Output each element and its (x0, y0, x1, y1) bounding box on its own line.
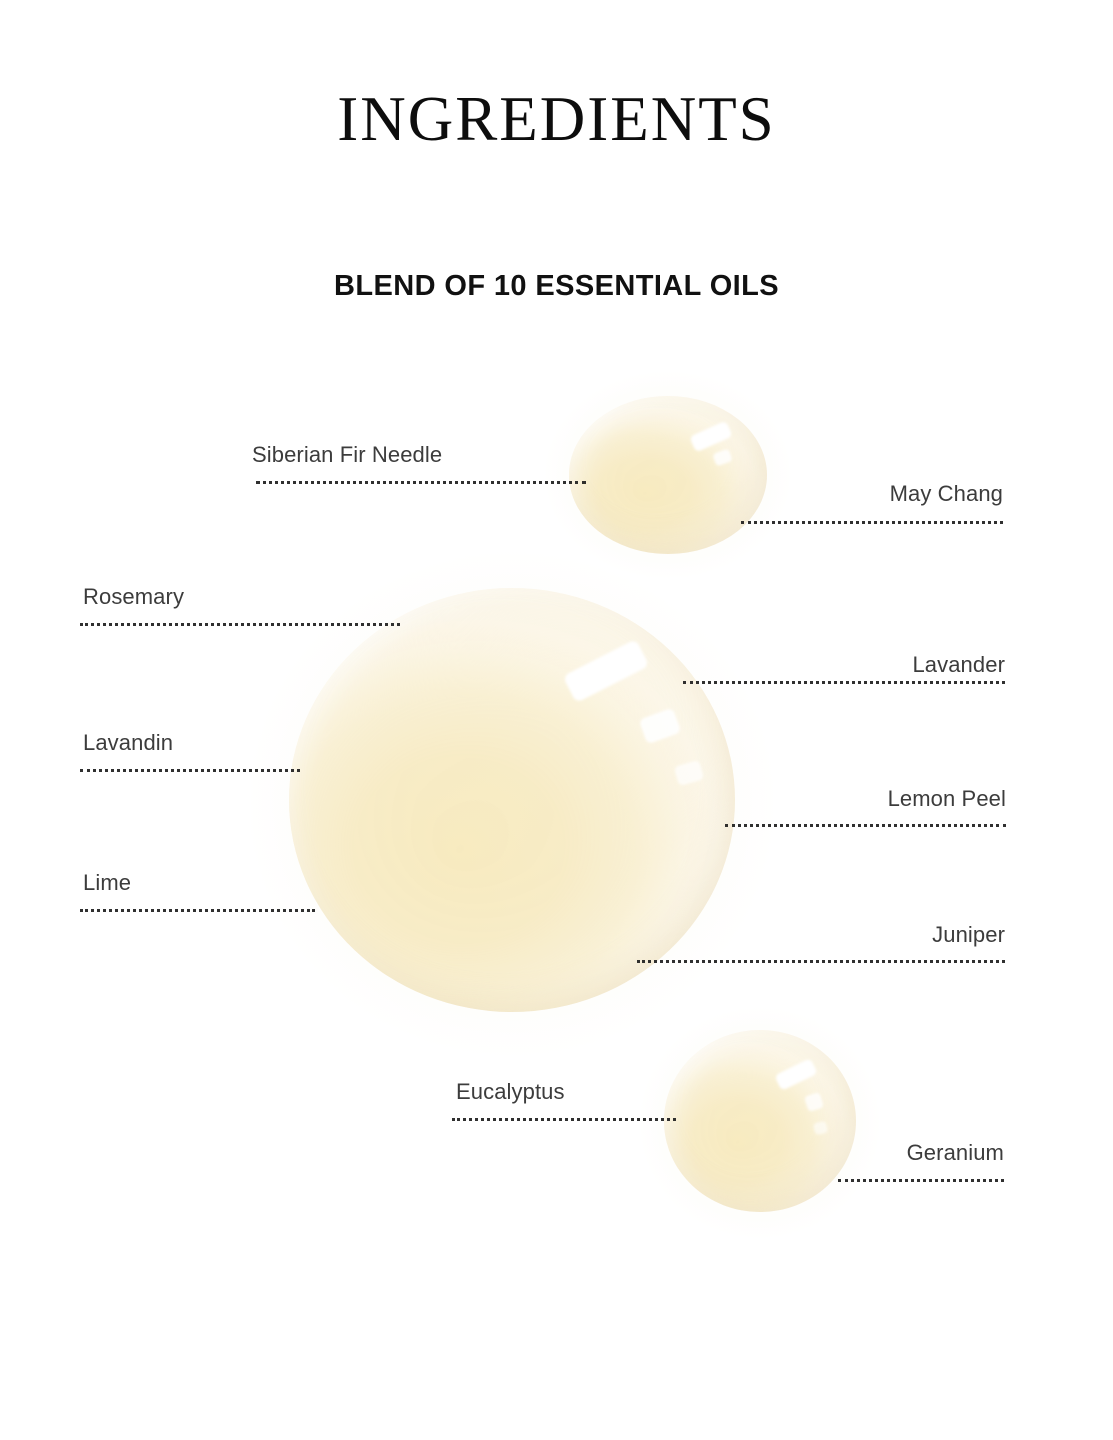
ingredient-leader-line (256, 481, 586, 487)
ingredient-leader-line (838, 1179, 1004, 1185)
droplet-main-highlight-tertiary (674, 760, 705, 786)
droplet-top-image (569, 396, 767, 554)
subtitle: BLEND OF 10 ESSENTIAL OILS (0, 272, 1113, 301)
ingredient-label-text: Rosemary (83, 586, 184, 608)
ingredient-label-text: Siberian Fir Needle (252, 444, 442, 466)
droplet-top-shading (569, 396, 767, 554)
ingredient-label-text: May Chang (890, 483, 1003, 505)
droplet-main-image (289, 588, 735, 1012)
droplet-bottom-highlight-tertiary (813, 1121, 829, 1136)
droplet-main-highlight-secondary (639, 708, 682, 745)
ingredient-label-text: Geranium (907, 1142, 1004, 1164)
ingredient-label-text: Lavander (912, 654, 1005, 676)
ingredient-label-text: Eucalyptus (456, 1081, 565, 1103)
ingredient-label-text: Lemon Peel (888, 788, 1006, 810)
ingredient-label-text: Lime (83, 872, 131, 894)
droplet-bottom-highlight-primary (774, 1058, 817, 1091)
ingredient-leader-line (725, 824, 1006, 830)
droplet-main-body (289, 588, 735, 1012)
droplet-main-rim-highlight (289, 588, 735, 1012)
droplet-main-highlight-primary (563, 639, 650, 703)
droplet-main-shading (289, 588, 735, 1012)
ingredient-leader-line (683, 681, 1005, 687)
droplet-bottom-image (664, 1030, 856, 1212)
droplet-top-rim-highlight (569, 396, 767, 554)
ingredient-leader-line (80, 623, 400, 629)
ingredient-leader-line (80, 909, 315, 915)
ingredient-label-text: Lavandin (83, 732, 173, 754)
page-title: INGREDIENTS (0, 88, 1113, 151)
ingredient-leader-line (741, 521, 1003, 527)
ingredient-leader-line (637, 960, 1005, 966)
droplet-top-highlight-secondary (712, 448, 732, 466)
droplet-bottom-highlight-secondary (804, 1092, 824, 1112)
droplet-bottom-shading (664, 1030, 856, 1212)
ingredients-infographic: INGREDIENTS BLEND OF 10 ESSENTIAL OILS S… (0, 0, 1113, 1440)
ingredient-leader-line (80, 769, 300, 775)
droplet-top-glow (543, 370, 793, 580)
droplet-bottom-body (664, 1030, 856, 1212)
droplet-bottom-rim-highlight (664, 1030, 856, 1212)
ingredient-label-text: Juniper (932, 924, 1005, 946)
ingredient-leader-line (452, 1118, 676, 1124)
droplet-top-highlight-primary (689, 421, 732, 453)
droplet-top-body (569, 396, 767, 554)
